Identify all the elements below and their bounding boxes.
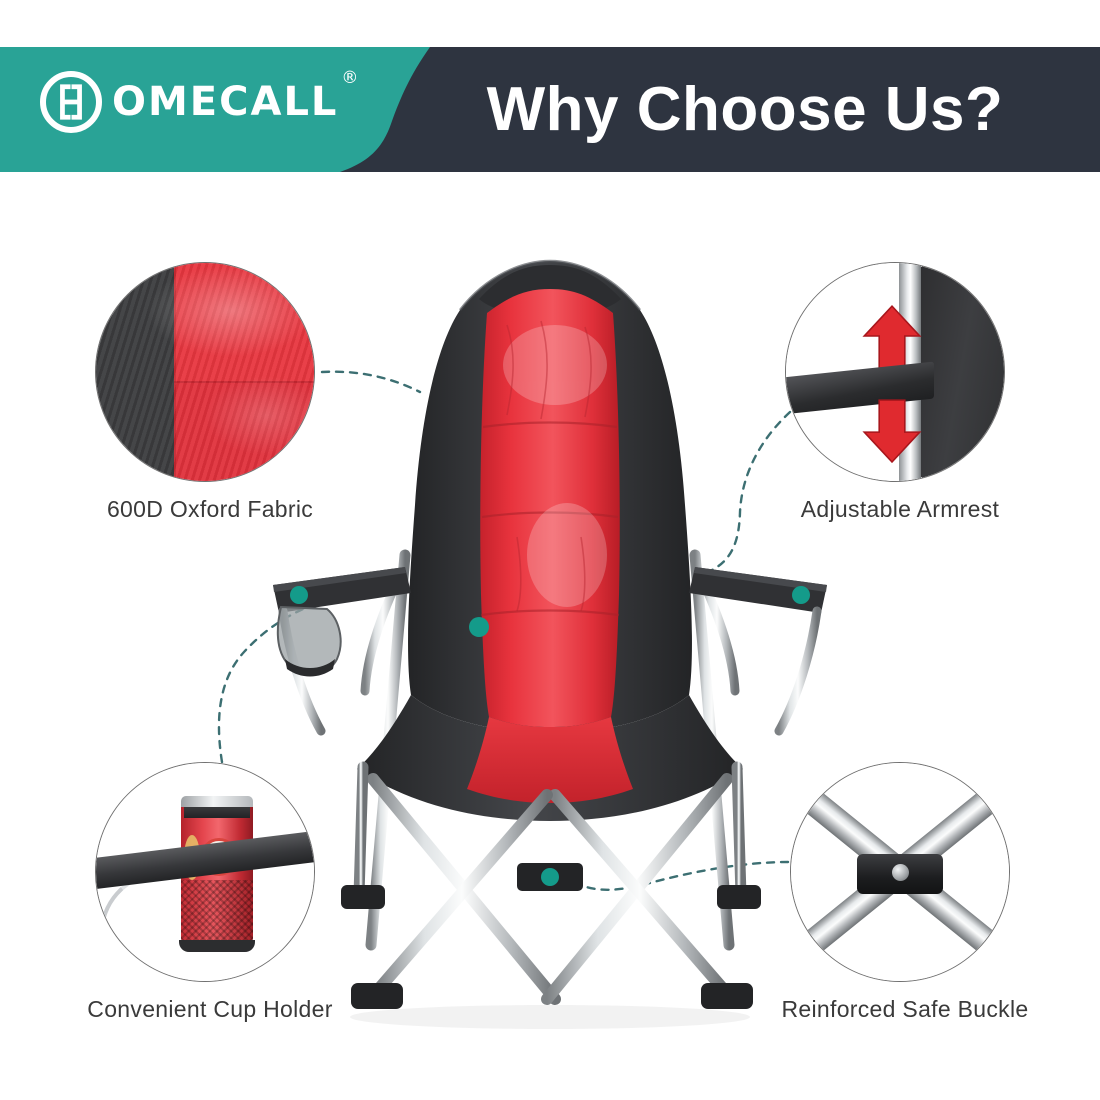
circled-h-monogram-icon [40, 71, 102, 133]
brand-logo: OMECALL ® [40, 71, 338, 133]
arrow-up-icon [860, 304, 924, 370]
accent-dot-armrest-left [290, 586, 308, 604]
can-neck [184, 806, 250, 818]
page-header: OMECALL ® Why Choose Us? [0, 47, 1100, 172]
product-image-camping-chair [255, 255, 845, 1055]
arrow-down-icon [860, 398, 924, 464]
brand-name: OMECALL ® [112, 82, 338, 122]
buckle-screw-icon [892, 864, 909, 881]
chair-shadow [350, 1005, 750, 1029]
chair-center-buckle [517, 863, 583, 891]
accent-dot-armrest-right [792, 586, 810, 604]
brand-name-text: OMECALL [112, 79, 338, 125]
accent-dot-back [469, 617, 489, 637]
accent-dot-buckle [541, 868, 559, 886]
can-mesh-pocket [181, 880, 253, 946]
can-top-lid [181, 796, 253, 807]
page-title: Why Choose Us? [415, 47, 1075, 172]
registered-trademark-icon: ® [341, 70, 360, 87]
can-base-ring [179, 940, 255, 952]
